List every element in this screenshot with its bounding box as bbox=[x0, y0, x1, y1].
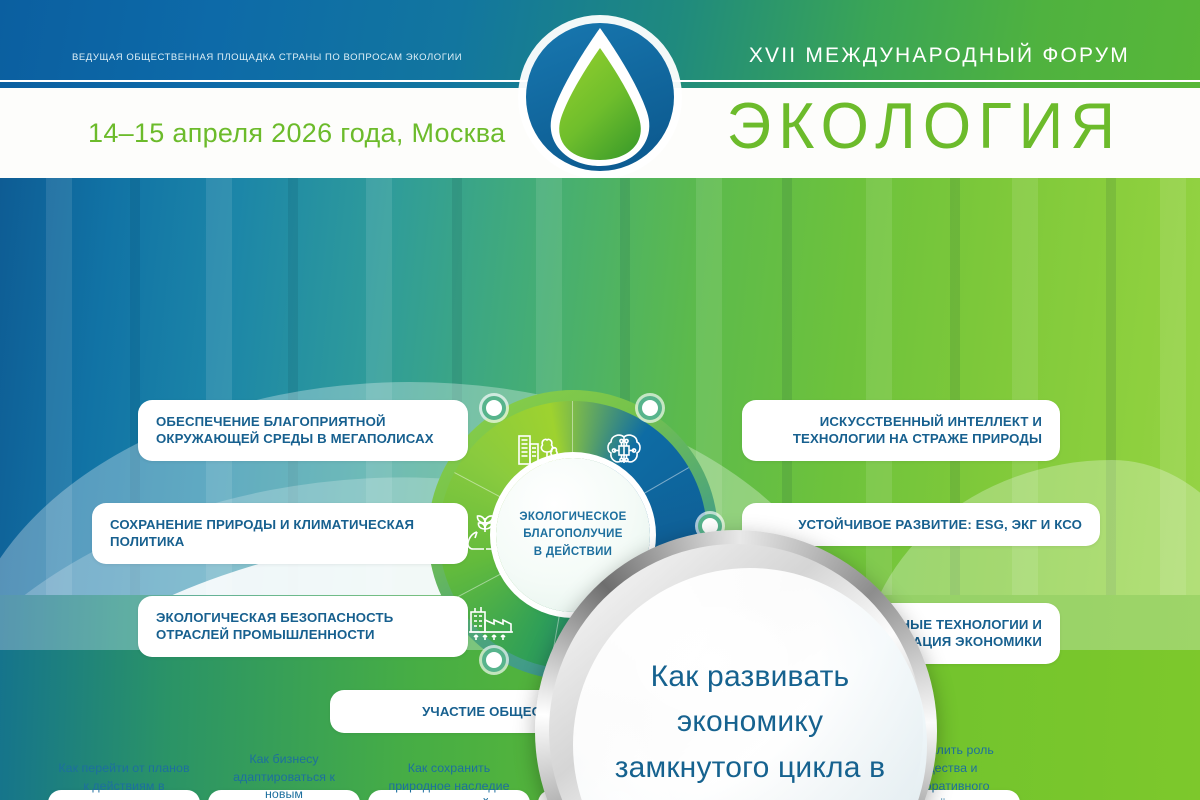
topic-pill-sustainable-development[interactable]: УСТОЙЧИВОЕ РАЗВИТИЕ: ESG, ЭКГ И КСО bbox=[742, 503, 1100, 546]
question-card[interactable]: Как сохранить природное наследие при рас… bbox=[368, 790, 530, 800]
wheel-node-bottom-left bbox=[482, 648, 506, 672]
wheel-node-top-left bbox=[482, 396, 506, 420]
topic-pill-industrial-safety[interactable]: ЭКОЛОГИЧЕСКАЯ БЕЗОПАСНОСТЬ ОТРАСЛЕЙ ПРОМ… bbox=[138, 596, 468, 657]
topic-pill-urban-environment[interactable]: ОБЕСПЕЧЕНИЕ БЛАГОПРИЯТНОЙ ОКРУЖАЮЩЕЙ СРЕ… bbox=[138, 400, 468, 461]
wheel-node-bottom-right bbox=[638, 648, 662, 672]
header-date-location: 14–15 апреля 2026 года, Москва bbox=[88, 118, 505, 149]
topic-pill-ai-technologies[interactable]: ИСКУССТВЕННЫЙ ИНТЕЛЛЕКТ И ТЕХНОЛОГИИ НА … bbox=[742, 400, 1060, 461]
question-card[interactable]: Как сделать климатическую политику инстр… bbox=[538, 790, 690, 800]
wheel-center-line-1: ЭКОЛОГИЧЕСКОЕ bbox=[519, 509, 626, 526]
wheel-node-right bbox=[698, 514, 722, 538]
question-card[interactable]: Как усилить роль общества и корпоративно… bbox=[868, 790, 1020, 800]
wheel-node-top-right bbox=[638, 396, 662, 420]
header-brand-title: ЭКОЛОГИЯ bbox=[727, 96, 1122, 158]
wheel-center-line-2: БЛАГОПОЛУЧИЕ bbox=[519, 526, 626, 543]
topic-pill-green-technologies[interactable]: ЗЕЛЁНЫЕ ТЕХНОЛОГИИ И ЦИФРОВИЗАЦИЯ ЭКОНОМ… bbox=[742, 603, 1060, 664]
question-card[interactable]: Как перейти от планов к действиям в нацп… bbox=[48, 790, 200, 800]
header-brand-text: ЭКОЛОГИЯ bbox=[727, 94, 1122, 159]
central-topic-wheel: ЭКОЛОГИЧЕСКОЕ БЛАГОПОЛУЧИЕ В ДЕЙСТВИИ bbox=[428, 390, 718, 680]
wheel-center-label: ЭКОЛОГИЧЕСКОЕ БЛАГОПОЛУЧИЕ В ДЕЙСТВИИ bbox=[511, 509, 634, 561]
wheel-center-hub: ЭКОЛОГИЧЕСКОЕ БЛАГОПОЛУЧИЕ В ДЕЙСТВИИ bbox=[496, 458, 650, 612]
question-card[interactable]: Как цифровизация и ИИ меняют подходы к о… bbox=[698, 790, 860, 800]
header-tagline: ВЕДУЩАЯ ОБЩЕСТВЕННАЯ ПЛОЩАДКА СТРАНЫ ПО … bbox=[72, 52, 502, 63]
header-forum-title: XVII МЕЖДУНАРОДНЫЙ ФОРУМ bbox=[749, 44, 1130, 68]
wheel-center-line-3: В ДЕЙСТВИИ bbox=[519, 544, 626, 561]
topic-pill-nature-climate[interactable]: СОХРАНЕНИЕ ПРИРОДЫ И КЛИМАТИЧЕСКАЯ ПОЛИТ… bbox=[92, 503, 468, 564]
main-canvas: ЭКОЛОГИЧЕСКОЕ БЛАГОПОЛУЧИЕ В ДЕЙСТВИИ ОБ… bbox=[0, 178, 1200, 800]
topic-pill-public-participation[interactable]: УЧАСТИЕ ОБЩЕСТВА bbox=[330, 690, 660, 733]
factory-icon bbox=[468, 602, 514, 647]
eco-drop-logo-icon bbox=[505, 8, 695, 186]
question-card[interactable]: Как бизнесу адаптироваться к новым закон… bbox=[208, 790, 360, 800]
poster-root: ВЕДУЩАЯ ОБЩЕСТВЕННАЯ ПЛОЩАДКА СТРАНЫ ПО … bbox=[0, 0, 1200, 800]
